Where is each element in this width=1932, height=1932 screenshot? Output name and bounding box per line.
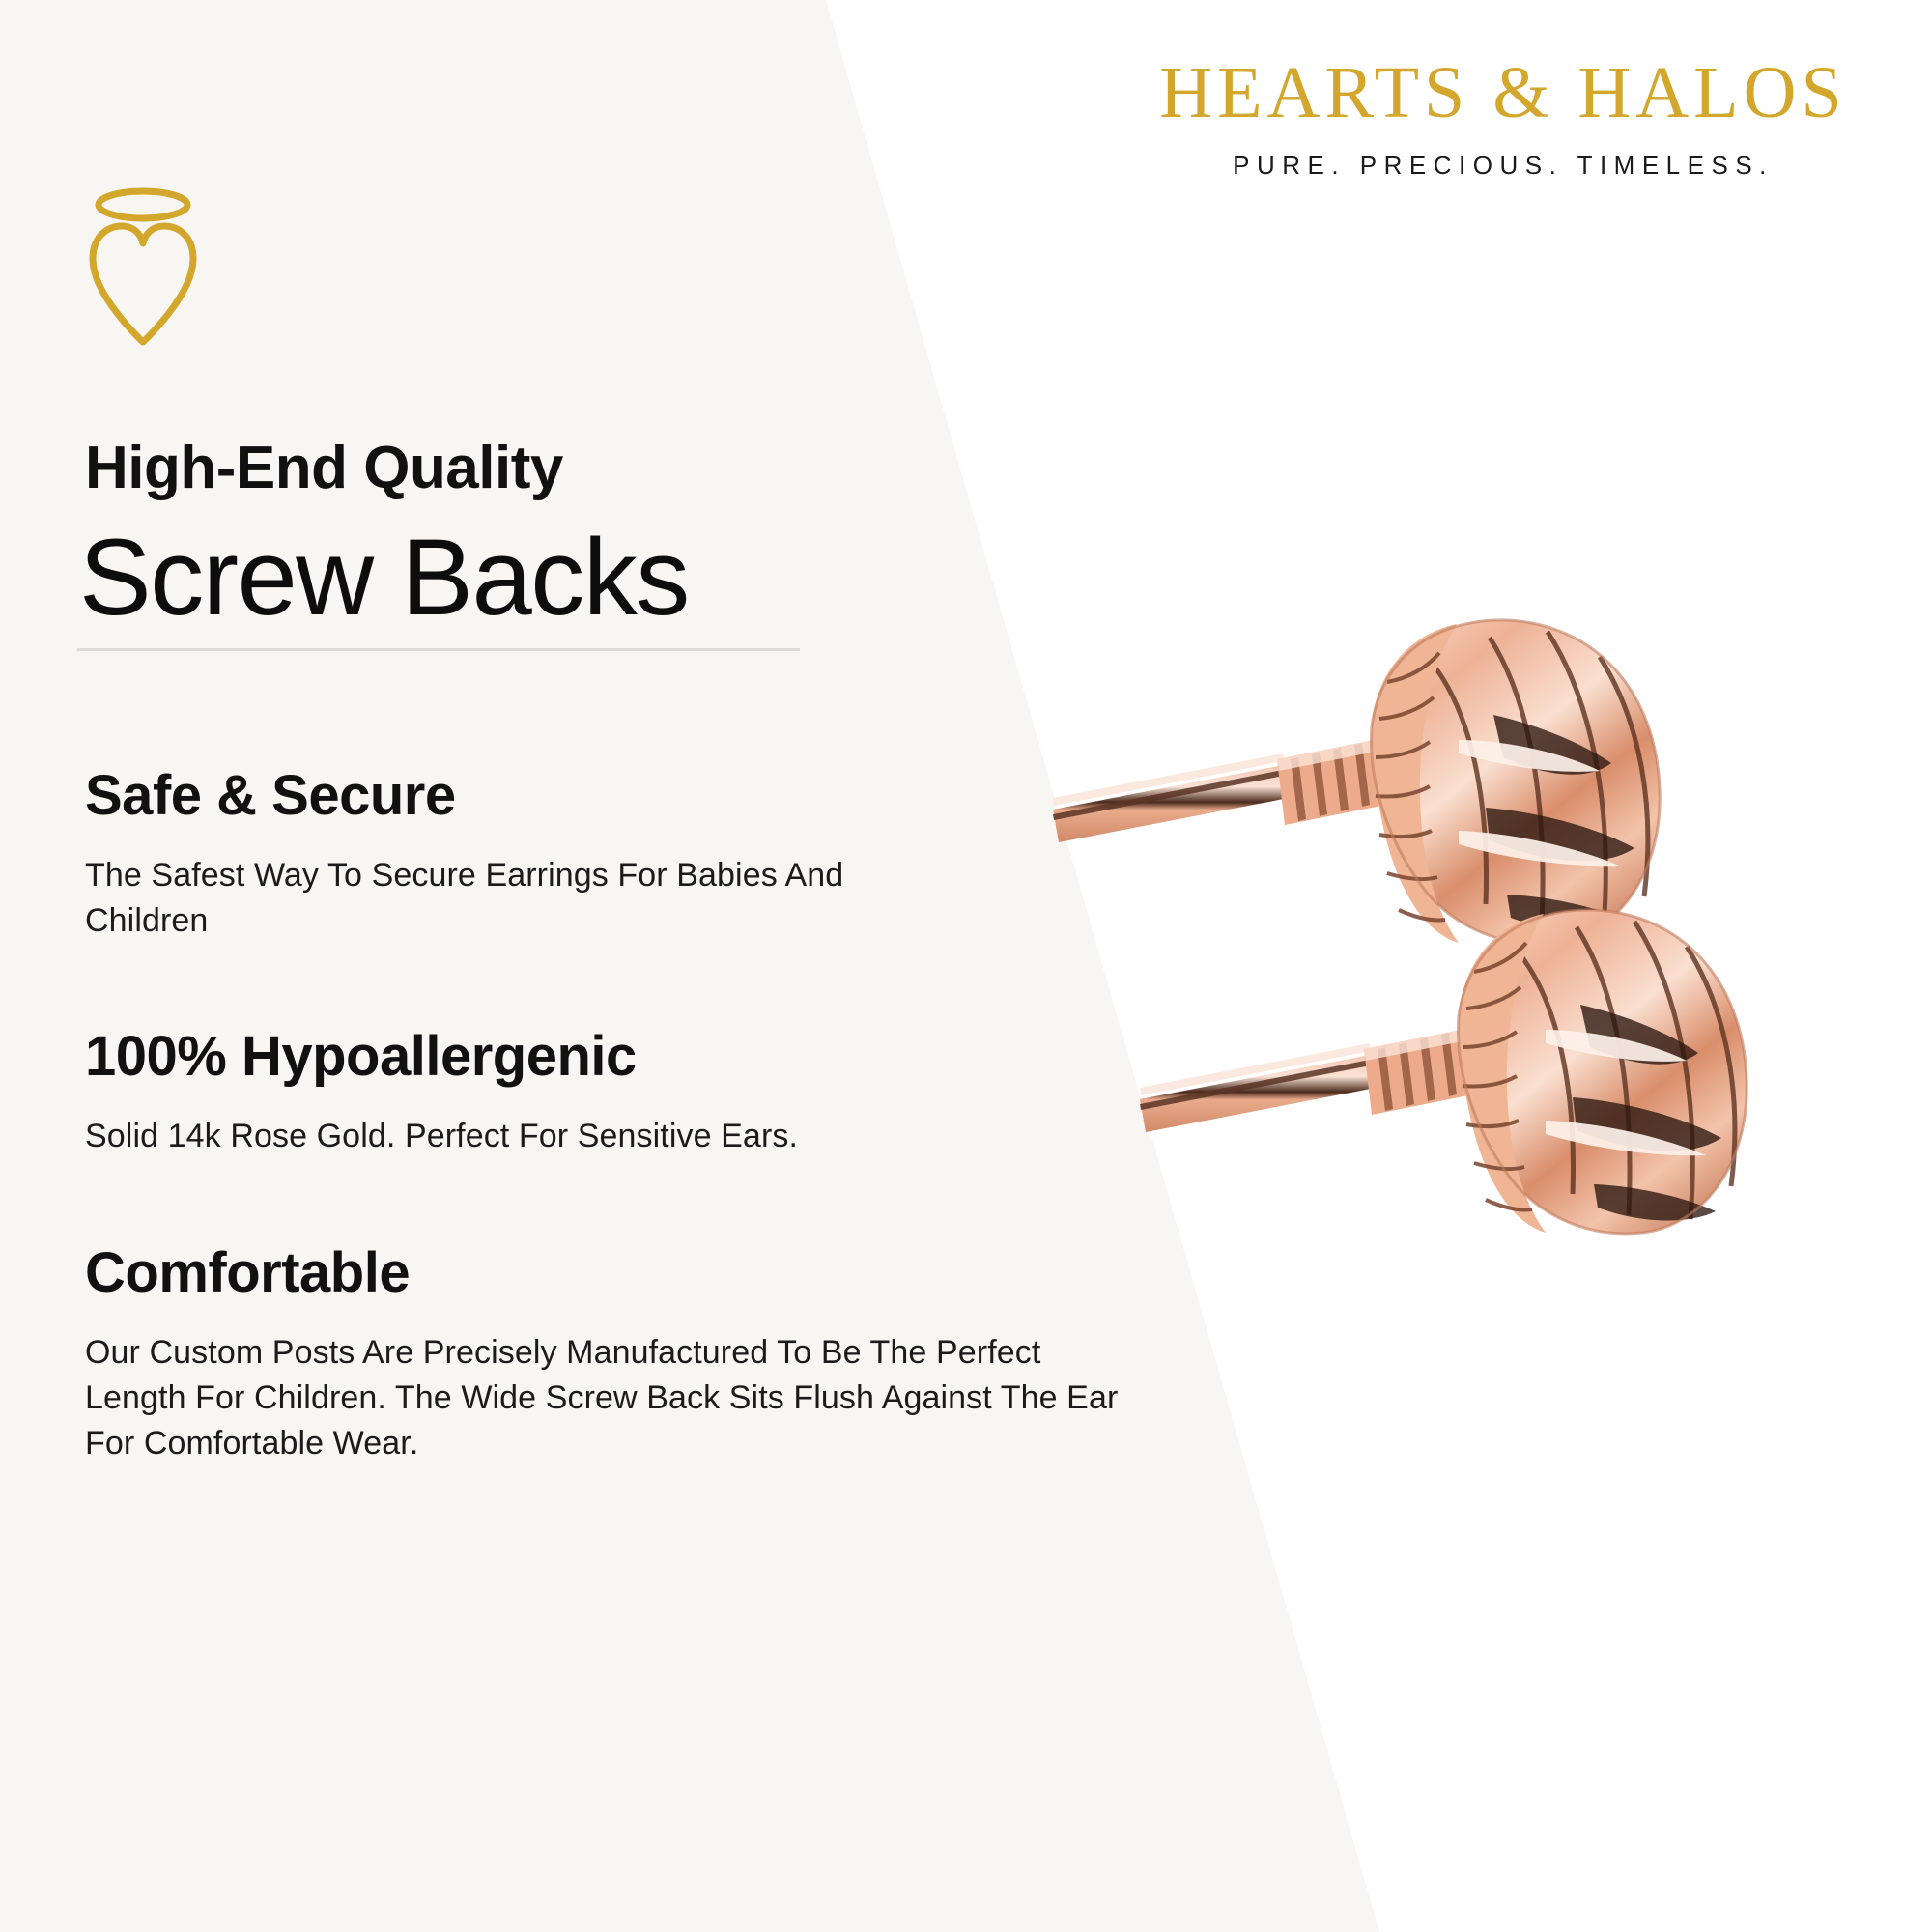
feature-body: Our Custom Posts Are Precisely Manufactu… [85, 1330, 1123, 1466]
screw-back-dome-top [1371, 620, 1660, 944]
feature-item-hypoallergenic: 100% Hypoallergenic Solid 14k Rose Gold.… [85, 1026, 1148, 1159]
headline-divider [77, 648, 800, 651]
feature-item-comfortable: Comfortable Our Custom Posts Are Precise… [85, 1242, 1148, 1466]
heart-shape [93, 226, 193, 342]
feature-item-safe-secure: Safe & Secure The Safest Way To Secure E… [85, 765, 1148, 944]
halo-shape [99, 191, 187, 218]
heart-with-halo-icon [75, 176, 211, 346]
feature-list: Safe & Secure The Safest Way To Secure E… [85, 765, 1148, 1466]
brand-tagline: PURE. PRECIOUS. TIMELESS. [1155, 151, 1851, 181]
earring-top [1053, 620, 1660, 944]
content-column: High-End Quality Screw Backs Safe & Secu… [85, 437, 1148, 1466]
eyebrow-heading: High-End Quality [85, 437, 1148, 499]
feature-body: Solid 14k Rose Gold. Perfect For Sensiti… [85, 1114, 1123, 1159]
page-title: Screw Backs [79, 521, 1148, 635]
brand-wordmark: HEARTS & HALOS [1155, 56, 1851, 129]
earring-post-bottom [1140, 1043, 1376, 1132]
feature-title: 100% Hypoallergenic [85, 1026, 1148, 1089]
feature-body: The Safest Way To Secure Earrings For Ba… [85, 853, 848, 944]
earring-bottom [1140, 910, 1747, 1234]
earring-post-top [1053, 753, 1289, 842]
brand-logo: HEARTS & HALOS PURE. PRECIOUS. TIMELESS. [1155, 56, 1851, 181]
rose-gold-screw-back-earrings-photo [1053, 618, 1893, 1352]
feature-title: Safe & Secure [85, 765, 1148, 828]
infographic-page: HEARTS & HALOS PURE. PRECIOUS. TIMELESS.… [0, 0, 1932, 1932]
screw-back-dome-bottom [1458, 910, 1747, 1234]
feature-title: Comfortable [85, 1242, 1148, 1305]
